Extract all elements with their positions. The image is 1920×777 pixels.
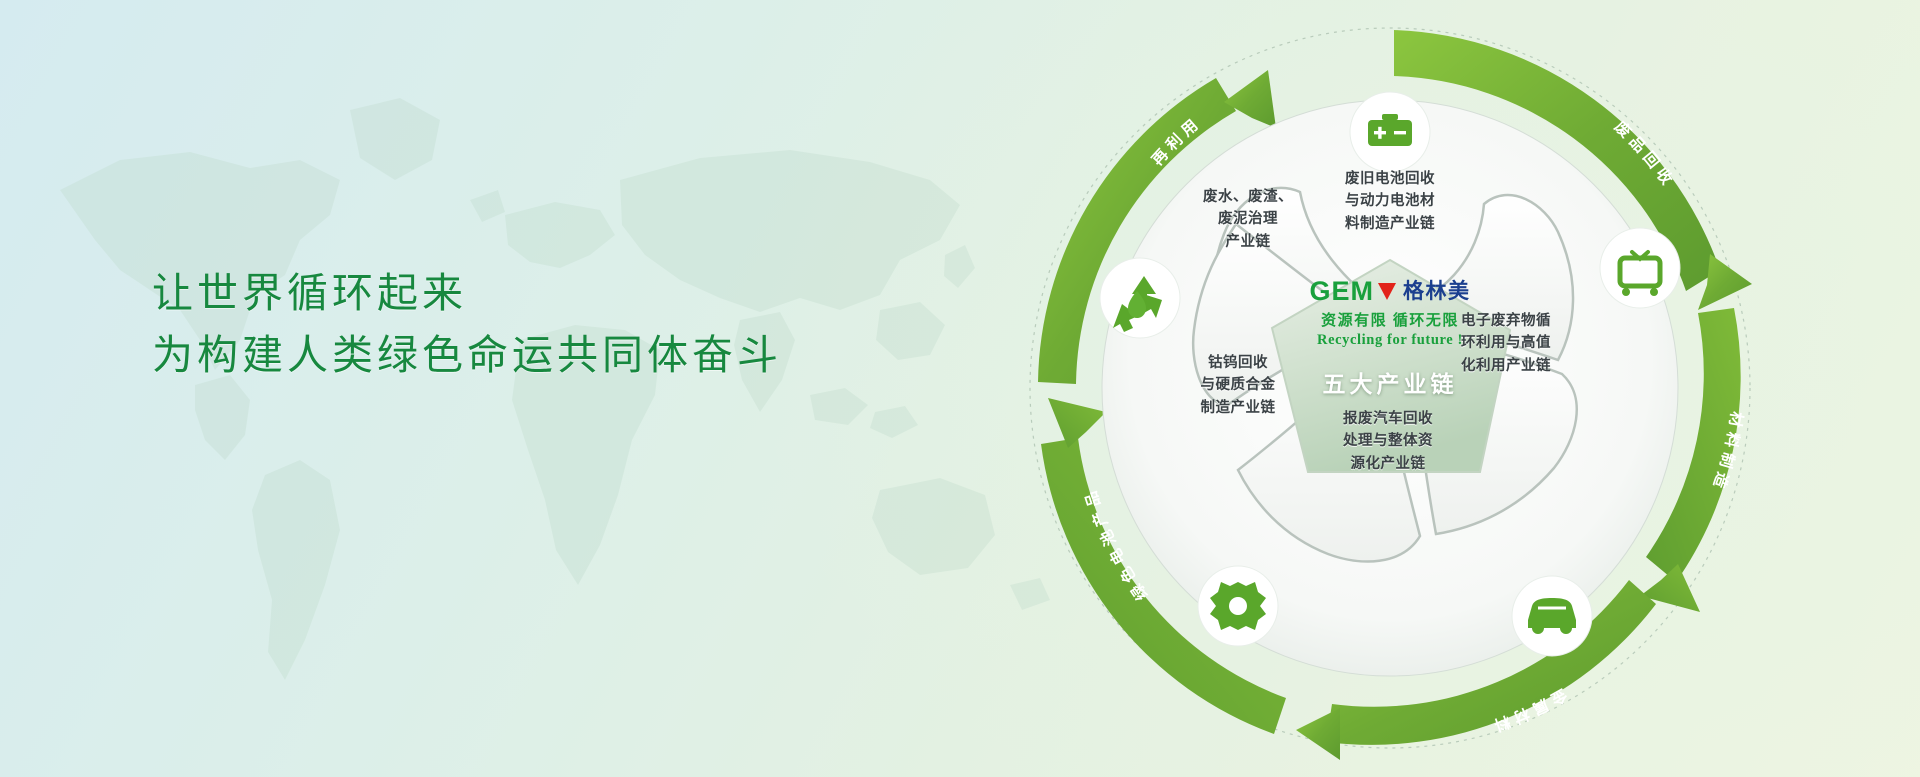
gear-icon xyxy=(1198,566,1278,646)
gem-wordmark: GEM xyxy=(1309,278,1374,305)
gem-chinese-name: 格林美 xyxy=(1403,281,1471,302)
logo-row: GEM 格林美 xyxy=(1260,278,1520,305)
segment-label-waste-water: 废水、废渣、 废泥治理 产业链 xyxy=(1178,186,1318,253)
logo-tagline-cn: 资源有限 循环无限 xyxy=(1260,309,1520,330)
car-icon xyxy=(1512,576,1592,656)
center-logo-block: GEM 格林美 资源有限 循环无限 Recycling for future !… xyxy=(1260,278,1520,399)
logo-triangle-icon xyxy=(1378,283,1396,300)
headline-line-1: 让世界循环起来 xyxy=(152,262,912,324)
segment-label-scrap-car: 报废汽车回收 处理与整体资 源化产业链 xyxy=(1318,408,1458,475)
recycle-water-icon xyxy=(1100,258,1180,338)
tv-icon xyxy=(1600,228,1680,308)
banner-stage: 让世界循环起来 为构建人类绿色命运共同体奋斗 xyxy=(0,0,1920,777)
banner-headline: 让世界循环起来 为构建人类绿色命运共同体奋斗 xyxy=(152,262,912,387)
center-title: 五大产业链 xyxy=(1260,365,1520,399)
battery-icon xyxy=(1350,92,1430,172)
logo-tagline-en: Recycling for future ! xyxy=(1260,332,1520,349)
headline-line-2: 为构建人类绿色命运共同体奋斗 xyxy=(152,324,912,386)
segment-label-battery: 废旧电池回收 与动力电池材 料制造产业链 xyxy=(1320,168,1460,235)
world-map-background xyxy=(0,40,1180,740)
